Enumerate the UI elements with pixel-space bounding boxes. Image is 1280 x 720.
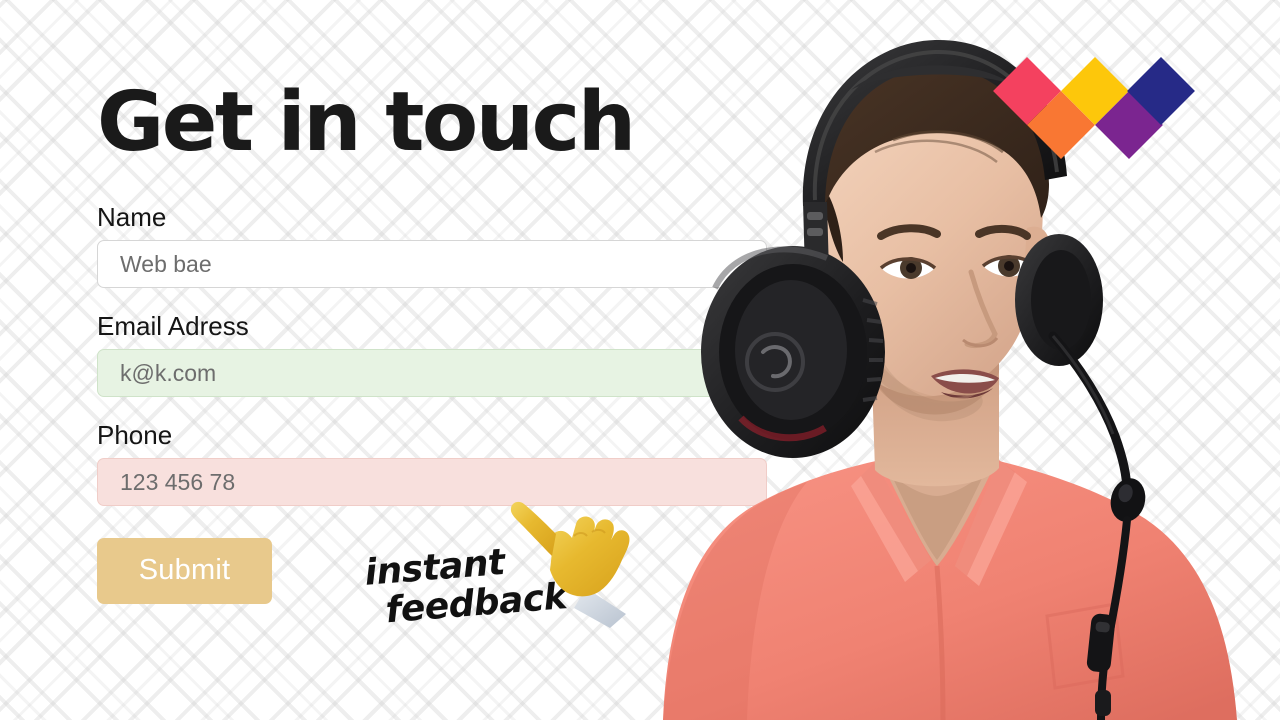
slide-canvas: Get in touch Name Email Adress Phone Sub… <box>0 0 1280 720</box>
spacer-3 <box>97 506 767 538</box>
page-title: Get in touch <box>97 82 634 164</box>
email-input[interactable] <box>97 349 767 397</box>
spacer-1 <box>97 288 767 312</box>
spacer-2 <box>97 397 767 421</box>
phone-input[interactable] <box>97 458 767 506</box>
phone-field-label: Phone <box>97 421 767 451</box>
field-group-name: Name <box>97 203 767 288</box>
name-input[interactable] <box>97 240 767 288</box>
contact-form: Name Email Adress Phone Submit <box>97 203 767 604</box>
name-field-label: Name <box>97 203 767 233</box>
brand-logo <box>1003 63 1185 155</box>
submit-button[interactable]: Submit <box>97 538 272 604</box>
field-group-phone: Phone <box>97 421 767 506</box>
field-group-email: Email Adress <box>97 312 767 397</box>
email-field-label: Email Adress <box>97 312 767 342</box>
